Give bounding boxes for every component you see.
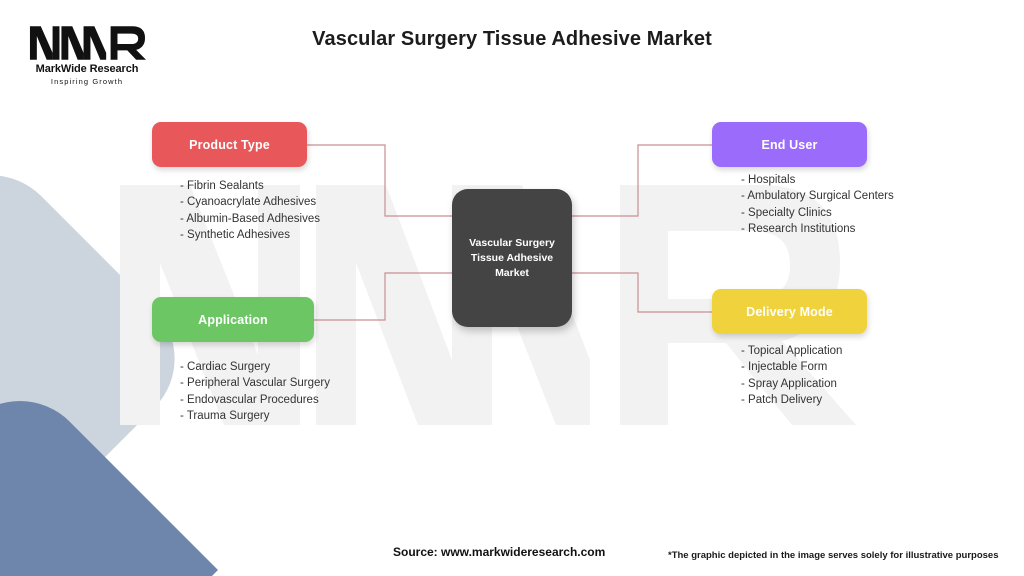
category-box-application[interactable]: Application	[152, 297, 314, 342]
item-list-application: - Cardiac Surgery - Peripheral Vascular …	[180, 359, 330, 424]
list-item: - Spray Application	[741, 376, 842, 392]
category-label-product-type: Product Type	[189, 138, 270, 152]
center-hub-line-2: Tissue Adhesive	[471, 252, 553, 264]
category-box-end-user[interactable]: End User	[712, 122, 867, 167]
list-item: - Ambulatory Surgical Centers	[741, 188, 894, 204]
category-label-end-user: End User	[761, 138, 817, 152]
list-item: - Patch Delivery	[741, 392, 842, 408]
connector-product-type	[307, 145, 452, 216]
infographic-canvas: MarkWide Research Inspiring Growth Vascu…	[0, 0, 1024, 576]
list-item: - Endovascular Procedures	[180, 392, 330, 408]
footer-disclaimer: *The graphic depicted in the image serve…	[668, 550, 999, 561]
logo-company-name: MarkWide Research	[22, 63, 152, 75]
category-label-application: Application	[198, 313, 268, 327]
footer-source[interactable]: Source: www.markwideresearch.com	[393, 545, 605, 559]
list-item: - Peripheral Vascular Surgery	[180, 375, 330, 391]
category-label-delivery-mode: Delivery Mode	[746, 305, 833, 319]
item-list-product-type: - Fibrin Sealants - Cyanoacrylate Adhesi…	[180, 178, 320, 243]
item-list-end-user: - Hospitals - Ambulatory Surgical Center…	[741, 172, 894, 237]
list-item: - Fibrin Sealants	[180, 178, 320, 194]
center-hub-line-3: Market	[495, 267, 529, 279]
connector-delivery-mode	[572, 273, 712, 312]
logo-tagline: Inspiring Growth	[22, 77, 152, 86]
center-hub-line-1: Vascular Surgery	[469, 237, 555, 249]
item-list-delivery-mode: - Topical Application - Injectable Form …	[741, 343, 842, 408]
list-item: - Albumin-Based Adhesives	[180, 211, 320, 227]
list-item: - Synthetic Adhesives	[180, 227, 320, 243]
list-item: - Research Institutions	[741, 221, 894, 237]
list-item: - Cyanoacrylate Adhesives	[180, 194, 320, 210]
page-title: Vascular Surgery Tissue Adhesive Market	[0, 28, 1024, 51]
list-item: - Trauma Surgery	[180, 408, 330, 424]
category-box-product-type[interactable]: Product Type	[152, 122, 307, 167]
center-hub-text: Vascular Surgery Tissue Adhesive Market	[463, 236, 561, 281]
connector-end-user	[572, 145, 712, 216]
list-item: - Injectable Form	[741, 359, 842, 375]
list-item: - Cardiac Surgery	[180, 359, 330, 375]
category-box-delivery-mode[interactable]: Delivery Mode	[712, 289, 867, 334]
list-item: - Specialty Clinics	[741, 205, 894, 221]
list-item: - Topical Application	[741, 343, 842, 359]
center-hub: Vascular Surgery Tissue Adhesive Market	[452, 189, 572, 327]
connector-application	[314, 273, 452, 320]
list-item: - Hospitals	[741, 172, 894, 188]
